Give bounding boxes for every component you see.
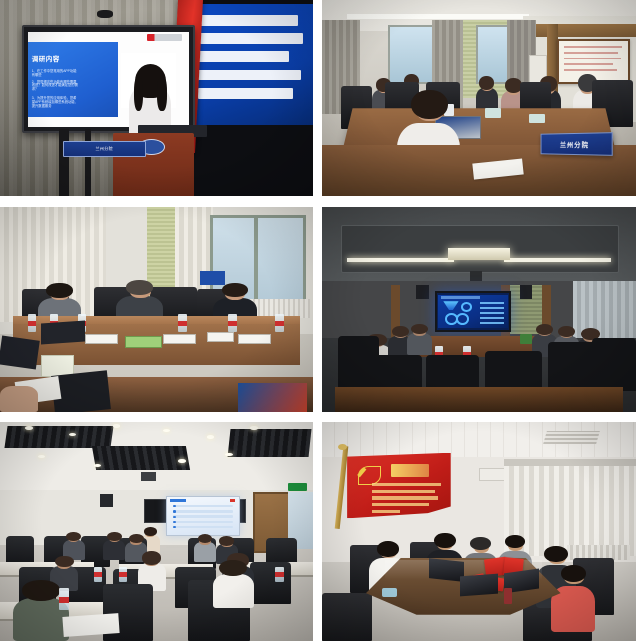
chair [592, 338, 636, 391]
laptop [0, 336, 39, 370]
laptop [41, 320, 85, 344]
table-nameplate [238, 334, 271, 344]
speaker [416, 285, 429, 299]
green-box [125, 336, 161, 348]
ceiling-light-strip [347, 14, 529, 19]
speaker [520, 285, 533, 299]
slide-header [170, 499, 186, 502]
poster [238, 383, 307, 412]
downlight-icon [113, 424, 121, 428]
ceiling-light-fixture [448, 248, 511, 260]
chair [322, 593, 372, 641]
attendee [194, 534, 216, 562]
photo-cell-2[interactable]: 兰州分院 [318, 0, 636, 207]
photo-cell-5[interactable] [0, 422, 318, 641]
photo-2-meeting-nameplate[interactable]: 兰州分院 [322, 0, 636, 196]
water-bottle [178, 314, 186, 332]
laptop [51, 370, 111, 412]
funnel-chart [443, 301, 458, 310]
bar-list-chart [480, 300, 504, 324]
podium-nameplate: 兰州分院 [63, 141, 146, 157]
laptop [460, 574, 498, 596]
slide-blue-panel: 调研内容 1、在工作中您常用的APP功能有哪些 2、您觉得这些功能有哪些需要改进… [28, 42, 118, 117]
photo-cell-6[interactable] [318, 422, 636, 641]
display-stand-left [59, 129, 68, 196]
laptop [429, 558, 464, 581]
foreground-participant [0, 375, 38, 412]
cove-light-left [347, 258, 454, 262]
attendee-front [213, 560, 254, 608]
small-object [382, 588, 398, 597]
podium-nameplate-label: 兰州分院 [95, 146, 113, 152]
photo-1-presenter-podium[interactable]: 调研内容 1、在工作中您常用的APP功能有哪些 2、您觉得这些功能有哪些需要改进… [0, 0, 313, 196]
air-conditioner [479, 468, 506, 481]
ceiling-vent [543, 431, 600, 444]
foreground-table [335, 387, 624, 412]
notebook [62, 613, 120, 637]
slide-bullet-1: 1、在工作中您常用的APP功能有哪些 [32, 70, 79, 77]
dashboard-title-bar [441, 296, 480, 299]
hair-right [157, 76, 167, 111]
tissue-box [529, 114, 545, 124]
water-bottle [28, 314, 36, 332]
hair-left [134, 76, 144, 111]
projector [141, 472, 157, 481]
downlight-icon [178, 459, 186, 463]
water-bottle [59, 588, 68, 610]
display-stand-right [85, 129, 91, 196]
organization-logo [147, 34, 182, 41]
projected-screen [191, 4, 313, 126]
ceiling-baffle [5, 426, 114, 448]
photo-cell-4[interactable] [318, 207, 636, 422]
nameplate: 兰州分院 [540, 132, 612, 155]
photo-3-three-participants[interactable] [0, 207, 313, 412]
cove-light-right [504, 258, 611, 262]
nameplate-label: 兰州分院 [560, 139, 589, 149]
thermos-cup [504, 588, 512, 603]
speaker [100, 494, 113, 507]
projector [470, 271, 483, 281]
wall-monitor [144, 499, 168, 523]
wood-trim-band [523, 24, 636, 38]
chair [250, 562, 291, 604]
photo-cell-1[interactable]: 调研内容 1、在工作中您常用的APP功能有哪些 2、您觉得这些功能有哪些需要改进… [0, 0, 318, 207]
downlight-icon [207, 435, 215, 439]
exit-sign [288, 483, 307, 491]
display-dashboard [435, 291, 511, 332]
projection-screen [166, 496, 240, 535]
blind-valance [504, 459, 636, 466]
slide-logo [230, 499, 235, 502]
water-bottle [228, 314, 236, 332]
photo-4-dashboard-room[interactable] [322, 207, 636, 412]
attendee [103, 532, 125, 560]
gauge-ring [456, 313, 469, 324]
tissue-box [485, 108, 501, 118]
gauge-ring [461, 302, 472, 312]
water-bottle [119, 567, 127, 582]
table-nameplate [163, 334, 196, 344]
photo-cell-3[interactable] [0, 207, 318, 422]
slide-bullet-2: 2、您觉得这些功能有哪些需要改进？如何改进才能满足您的需求？ [32, 81, 79, 92]
table-nameplate [207, 332, 234, 342]
water-bottle [275, 567, 283, 582]
water-bottle [275, 314, 283, 332]
slide-bullet-3: 3、为提升您的应用体验，您希望APP系统增加哪些系统功能、提升数据服务 [32, 97, 79, 108]
participant [407, 324, 432, 355]
downlight-icon [25, 426, 33, 430]
downlight-icon [225, 453, 233, 457]
slide-title: 调研内容 [32, 53, 60, 63]
photo-5-training-classroom[interactable] [0, 422, 313, 641]
ceiling-baffle [227, 429, 311, 457]
photo-collage: 调研内容 1、在工作中您常用的APP功能有哪些 2、您觉得这些功能有哪些需要改进… [0, 0, 636, 641]
ceiling-camera-icon [97, 10, 113, 18]
dashboard-screen [438, 295, 507, 329]
downlight-icon [250, 426, 258, 430]
banner-title [391, 464, 429, 477]
ceiling-baffle [92, 446, 190, 470]
plant [520, 334, 533, 344]
water-bottle [94, 567, 102, 582]
table-nameplate [85, 334, 118, 344]
participant-front [551, 567, 595, 633]
photo-6-party-banner-room[interactable] [322, 422, 636, 641]
